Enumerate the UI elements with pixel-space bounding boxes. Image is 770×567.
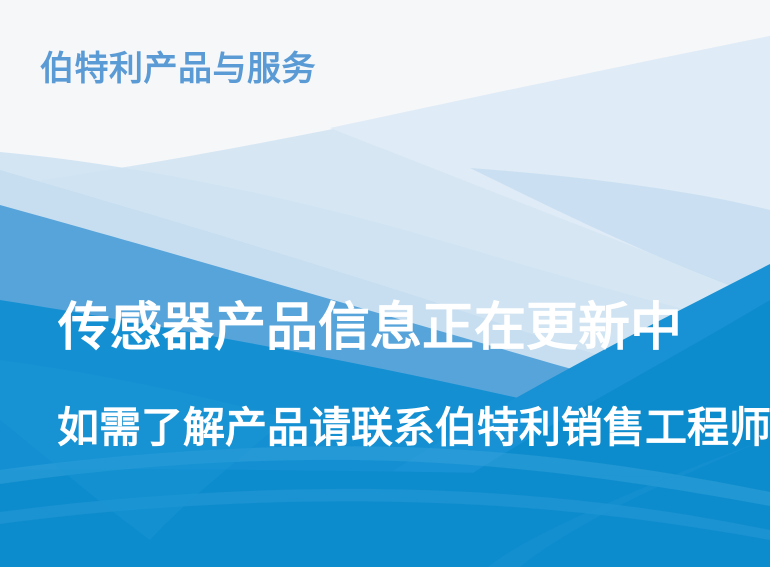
brand-title: 伯特利产品与服务 xyxy=(40,48,316,90)
banner-text-layer: 伯特利产品与服务 传感器产品信息正在更新中 如需了解产品请联系伯特利销售工程师 xyxy=(0,0,770,567)
headline-message: 传感器产品信息正在更新中 xyxy=(58,297,682,359)
product-service-banner: 伯特利产品与服务 传感器产品信息正在更新中 如需了解产品请联系伯特利销售工程师 xyxy=(0,0,770,567)
subheadline-message: 如需了解产品请联系伯特利销售工程师 xyxy=(57,403,770,453)
